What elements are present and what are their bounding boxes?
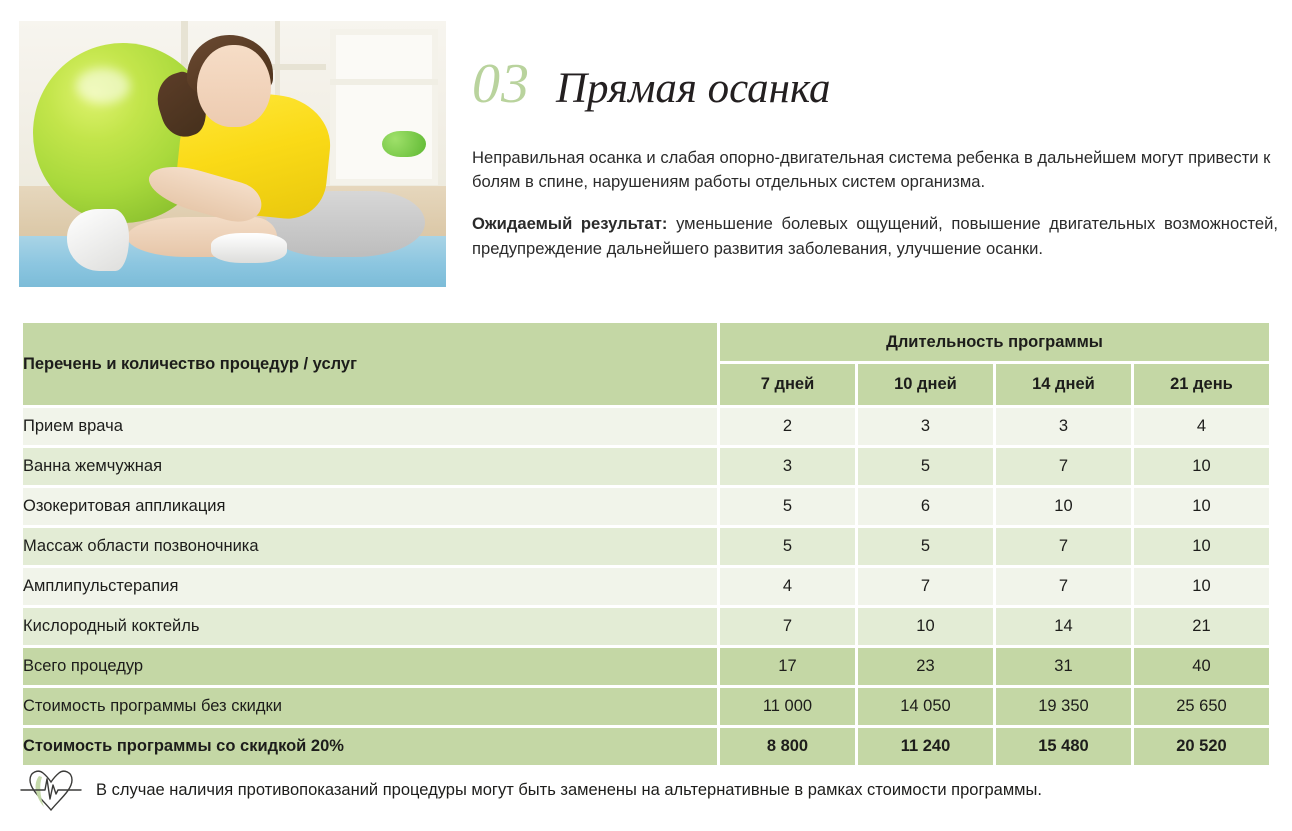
row-label: Стоимость программы со скидкой 20%	[23, 728, 717, 765]
row-value: 11 240	[858, 728, 993, 765]
program-table: Перечень и количество процедур / услуг Д…	[20, 320, 1272, 768]
row-value: 10	[858, 608, 993, 645]
row-value: 3	[720, 448, 855, 485]
table-row: Всего процедур17233140	[23, 648, 1269, 685]
row-value: 7	[996, 448, 1131, 485]
table-row: Кислородный коктейль7101421	[23, 608, 1269, 645]
row-value: 8 800	[720, 728, 855, 765]
row-label: Стоимость программы без скидки	[23, 688, 717, 725]
row-value: 5	[720, 528, 855, 565]
row-value: 19 350	[996, 688, 1131, 725]
table-head: Перечень и количество процедур / услуг Д…	[23, 323, 1269, 405]
row-value: 7	[858, 568, 993, 605]
header-duration-group: Длительность программы	[720, 323, 1269, 361]
row-value: 10	[1134, 448, 1269, 485]
table-row: Амплипульстерапия47710	[23, 568, 1269, 605]
row-value: 5	[720, 488, 855, 525]
table-row: Озокеритовая аппликация561010	[23, 488, 1269, 525]
header-label-cell: Перечень и количество процедур / услуг	[23, 323, 717, 405]
row-value: 3	[996, 408, 1131, 445]
footer-note-text: В случае наличия противопоказаний процед…	[96, 781, 1042, 801]
photo-child-sock-right	[211, 233, 287, 263]
section-number: 03	[472, 56, 530, 112]
row-value: 14 050	[858, 688, 993, 725]
table-body: Прием врача2334Ванна жемчужная35710Озоке…	[23, 408, 1269, 765]
row-label: Амплипульстерапия	[23, 568, 717, 605]
table-row: Стоимость программы со скидкой 20%8 8001…	[23, 728, 1269, 765]
header-col-21: 21 день	[1134, 364, 1269, 405]
photo-shelf-toy	[382, 131, 426, 157]
row-value: 7	[996, 568, 1131, 605]
row-value: 7	[996, 528, 1131, 565]
row-value: 20 520	[1134, 728, 1269, 765]
row-value: 10	[1134, 528, 1269, 565]
row-value: 3	[858, 408, 993, 445]
page-title: Прямая осанка	[556, 67, 831, 110]
row-label: Прием врача	[23, 408, 717, 445]
photo-shelf	[330, 29, 438, 185]
header-col-7: 7 дней	[720, 364, 855, 405]
row-value: 40	[1134, 648, 1269, 685]
row-value: 25 650	[1134, 688, 1269, 725]
row-label: Массаж области позвоночника	[23, 528, 717, 565]
photo-shelf-divider	[330, 79, 438, 85]
row-value: 7	[720, 608, 855, 645]
table-header-row-group: Перечень и количество процедур / услуг Д…	[23, 323, 1269, 361]
row-value: 2	[720, 408, 855, 445]
row-value: 10	[1134, 488, 1269, 525]
row-value: 10	[996, 488, 1131, 525]
row-label: Ванна жемчужная	[23, 448, 717, 485]
expected-result-label: Ожидаемый результат:	[472, 214, 667, 233]
row-value: 14	[996, 608, 1131, 645]
row-value: 4	[720, 568, 855, 605]
expected-result-paragraph: Ожидаемый результат: уменьшение болевых …	[472, 212, 1278, 262]
header-col-10: 10 дней	[858, 364, 993, 405]
page-title-block: 03Прямая осанка	[472, 56, 1278, 112]
intro-paragraph: Неправильная осанка и слабая опорно-двиг…	[472, 146, 1278, 193]
row-value: 11 000	[720, 688, 855, 725]
program-page: 03Прямая осанка Неправильная осанка и сл…	[0, 0, 1292, 831]
photo-child-sock-left	[67, 209, 129, 271]
heart-pulse-icon	[20, 766, 82, 816]
header-col-14: 14 дней	[996, 364, 1131, 405]
row-label: Озокеритовая аппликация	[23, 488, 717, 525]
row-value: 5	[858, 448, 993, 485]
row-value: 15 480	[996, 728, 1131, 765]
table-row: Массаж области позвоночника55710	[23, 528, 1269, 565]
row-label: Кислородный коктейль	[23, 608, 717, 645]
table-row: Стоимость программы без скидки11 00014 0…	[23, 688, 1269, 725]
row-value: 10	[1134, 568, 1269, 605]
table-row: Ванна жемчужная35710	[23, 448, 1269, 485]
row-label: Всего процедур	[23, 648, 717, 685]
row-value: 4	[1134, 408, 1269, 445]
row-value: 17	[720, 648, 855, 685]
table-row: Прием врача2334	[23, 408, 1269, 445]
row-value: 23	[858, 648, 993, 685]
row-value: 21	[1134, 608, 1269, 645]
row-value: 5	[858, 528, 993, 565]
row-value: 6	[858, 488, 993, 525]
row-value: 31	[996, 648, 1131, 685]
footer-note: В случае наличия противопоказаний процед…	[20, 766, 1278, 816]
photo-child-head	[197, 45, 271, 127]
hero-photo	[19, 21, 446, 287]
